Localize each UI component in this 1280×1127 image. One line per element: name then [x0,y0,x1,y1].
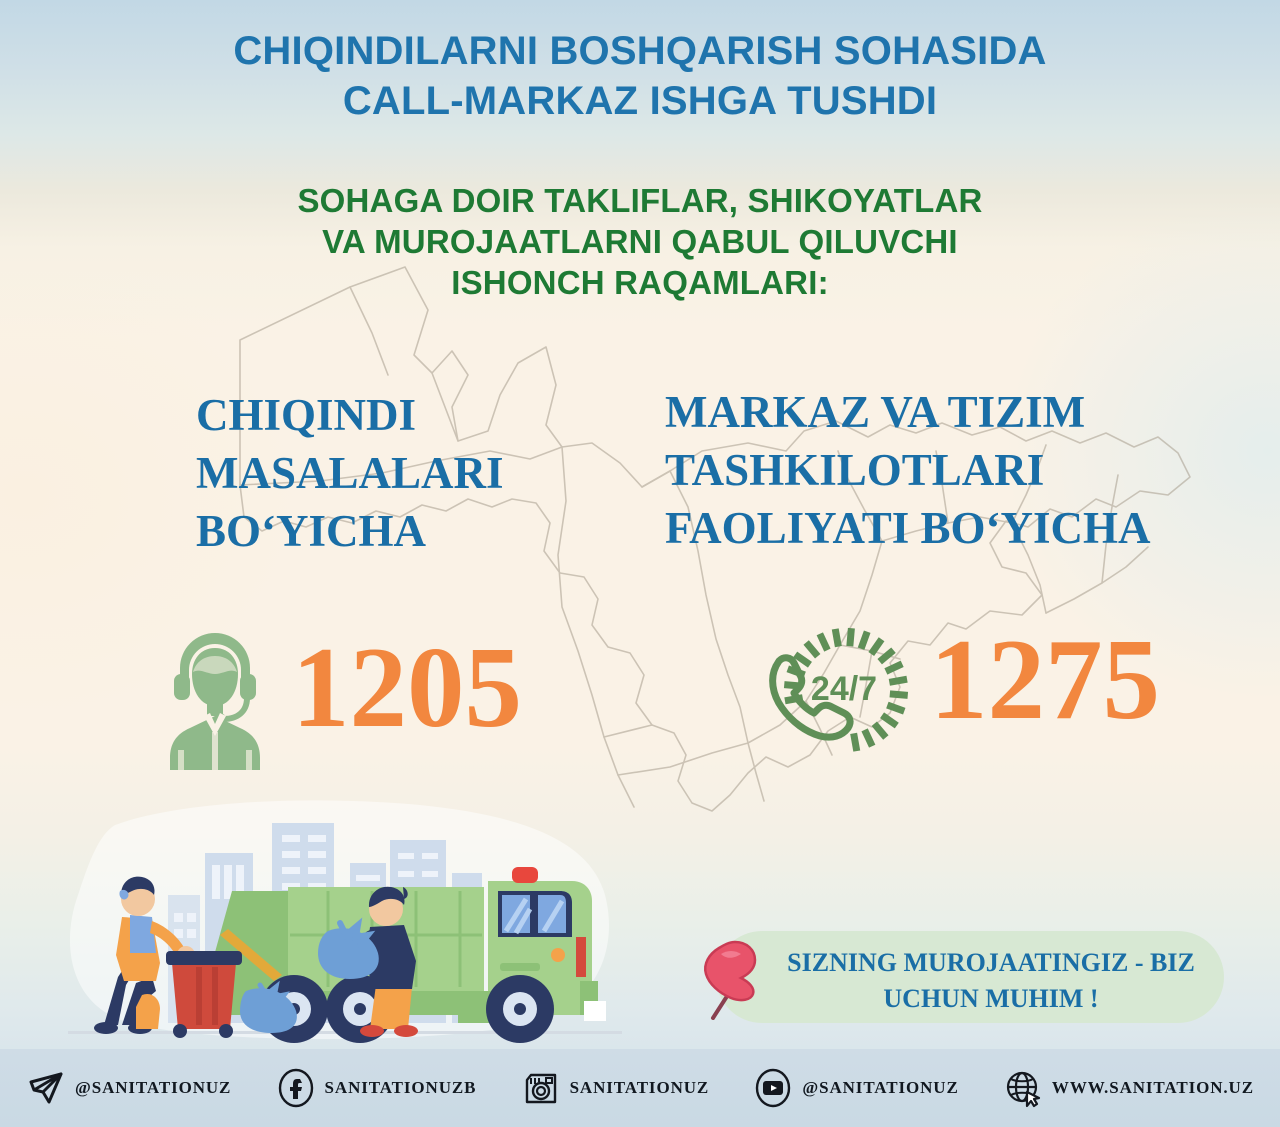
social-label-youtube: @SANITATIONUZ [802,1078,958,1098]
subtitle-line-3: ISHONCH RAQAMLARI: [0,262,1280,303]
instagram-icon [521,1068,561,1108]
social-footer: @SANITATIONUZ SANITATIONUZB [0,1049,1280,1127]
garbage-truck-scene [60,795,630,1050]
social-label-instagram: SANITATIONUZ [570,1078,710,1098]
social-item-website[interactable]: WWW.SANITATION.UZ [1003,1068,1254,1108]
social-label-telegram: @SANITATIONUZ [75,1078,231,1098]
hotline-right-heading-line-3: FAOLIYATI BO‘YICHA [665,499,1225,557]
hotline-left-heading: CHIQINDI MASALALARI BO‘YICHA [196,386,576,560]
hotline-right-number: 1275 [930,622,1160,737]
infographic-poster: CHIQINDILARNI BOSHQARISH SOHASIDA CALL-M… [0,0,1280,1127]
page-subtitle: SOHAGA DOIR TAKLIFLAR, SHIKOYATLAR VA MU… [0,180,1280,303]
youtube-icon [753,1068,793,1108]
website-icon [1003,1068,1043,1108]
social-item-instagram[interactable]: SANITATIONUZ [521,1068,710,1108]
subtitle-line-1: SOHAGA DOIR TAKLIFLAR, SHIKOYATLAR [0,180,1280,221]
hotline-right-heading: MARKAZ VA TIZIM TASHKILOTLARI FAOLIYATI … [665,383,1225,557]
callout-line-2: UCHUN MUHIM ! [756,981,1226,1017]
social-item-facebook[interactable]: SANITATIONUZB [276,1068,477,1108]
hotline-left-number: 1205 [292,630,522,745]
hotline-left-heading-line-2: MASALALARI [196,444,576,502]
title-line-2: CALL-MARKAZ ISHGA TUSHDI [0,76,1280,126]
page-title: CHIQINDILARNI BOSHQARISH SOHASIDA CALL-M… [0,26,1280,126]
telegram-icon [26,1068,66,1108]
social-item-youtube[interactable]: @SANITATIONUZ [753,1068,958,1108]
hotline-right-heading-line-1: MARKAZ VA TIZIM [665,383,1225,441]
phone-badge-label: 24/7 [811,670,877,708]
social-item-telegram[interactable]: @SANITATIONUZ [26,1068,231,1108]
headset-operator-icon [160,612,270,772]
phone-24-7-icon: 24/7 [748,608,928,778]
hotline-right-heading-line-2: TASHKILOTLARI [665,441,1225,499]
callout-line-1: SIZNING MUROJAATINGIZ - BIZ [756,945,1226,981]
title-line-1: CHIQINDILARNI BOSHQARISH SOHASIDA [0,26,1280,76]
hotline-left-heading-line-3: BO‘YICHA [196,502,576,560]
social-label-website: WWW.SANITATION.UZ [1052,1078,1254,1098]
social-label-facebook: SANITATIONUZB [325,1078,477,1098]
hotline-left-heading-line-1: CHIQINDI [196,386,576,444]
subtitle-line-2: VA MUROJAATLARNI QABUL QILUVCHI [0,221,1280,262]
facebook-icon [276,1068,316,1108]
callout-banner-text: SIZNING MUROJAATINGIZ - BIZ UCHUN MUHIM … [756,945,1226,1017]
